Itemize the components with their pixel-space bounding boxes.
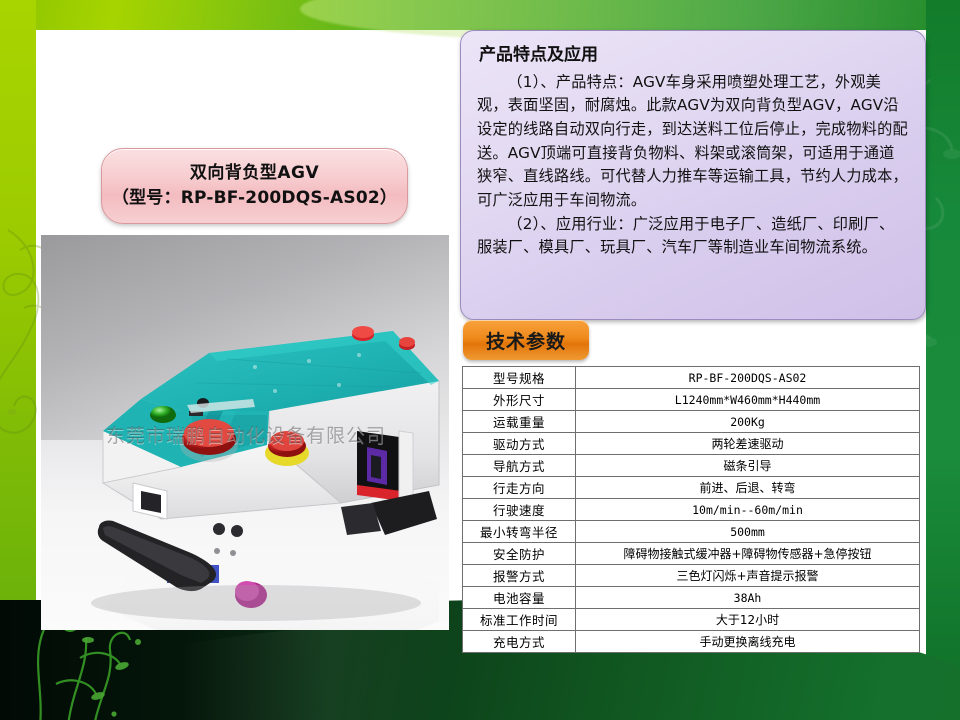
spec-row-value: 200Kg [576, 411, 920, 433]
spec-table-row: 行走方向前进、后退、转弯 [463, 477, 920, 499]
spec-table-body: 型号规格RP-BF-200DQS-AS02外形尺寸L1240mm*W460mm*… [463, 367, 920, 653]
spec-row-key: 标准工作时间 [463, 609, 576, 631]
spec-row-key: 行走方向 [463, 477, 576, 499]
spec-row-key: 充电方式 [463, 631, 576, 653]
spec-row-key: 导航方式 [463, 455, 576, 477]
spec-row-key: 运载重量 [463, 411, 576, 433]
spec-row-key: 驱动方式 [463, 433, 576, 455]
spec-table-row: 最小转弯半径500mm [463, 521, 920, 543]
spec-row-key: 最小转弯半径 [463, 521, 576, 543]
spec-row-value: 三色灯闪烁+声音提示报警 [576, 565, 920, 587]
spec-row-value: 大于12小时 [576, 609, 920, 631]
spec-row-key: 安全防护 [463, 543, 576, 565]
product-title-line2: （型号：RP-BF-200DQS-AS02） [112, 186, 397, 212]
feature-application-box: 产品特点及应用 （1）、产品特点：AGV车身采用喷塑处理工艺，外观美观，表面坚固… [460, 30, 926, 320]
spec-table-row: 标准工作时间大于12小时 [463, 609, 920, 631]
right-green-band [926, 0, 960, 700]
spec-row-value: 500mm [576, 521, 920, 543]
spec-row-value: L1240mm*W460mm*H440mm [576, 389, 920, 411]
spec-row-value: 10m/min--60m/min [576, 499, 920, 521]
spec-table-row: 报警方式三色灯闪烁+声音提示报警 [463, 565, 920, 587]
spec-row-value: RP-BF-200DQS-AS02 [576, 367, 920, 389]
spec-row-value: 38Ah [576, 587, 920, 609]
spec-table-row: 导航方式磁条引导 [463, 455, 920, 477]
spec-table-row: 型号规格RP-BF-200DQS-AS02 [463, 367, 920, 389]
spec-row-key: 外形尺寸 [463, 389, 576, 411]
top-green-band [0, 0, 960, 30]
slide-canvas: 双向背负型AGV （型号：RP-BF-200DQS-AS02） [0, 0, 960, 720]
left-green-band [0, 0, 36, 680]
spec-table-row: 电池容量38Ah [463, 587, 920, 609]
spec-table-row: 安全防护障碍物接触式缓冲器+障碍物传感器+急停按钮 [463, 543, 920, 565]
spec-row-value: 前进、后退、转弯 [576, 477, 920, 499]
spec-row-value: 手动更换离线充电 [576, 631, 920, 653]
spec-row-value: 两轮差速驱动 [576, 433, 920, 455]
product-photo: 东莞市瑞鹏自动化设备有限公司 [41, 235, 449, 630]
spec-table-row: 外形尺寸L1240mm*W460mm*H440mm [463, 389, 920, 411]
spec-row-key: 型号规格 [463, 367, 576, 389]
spec-table-row: 充电方式手动更换离线充电 [463, 631, 920, 653]
feature-paragraph-2: （2）、应用行业：广泛应用于电子厂、造纸厂、印刷厂、服装厂、模具厂、玩具厂、汽车… [477, 213, 909, 260]
spec-section-badge: 技术参数 [463, 320, 589, 360]
spec-row-key: 电池容量 [463, 587, 576, 609]
product-title-line1: 双向背负型AGV [190, 161, 319, 187]
spec-row-key: 行驶速度 [463, 499, 576, 521]
spec-table: 型号规格RP-BF-200DQS-AS02外形尺寸L1240mm*W460mm*… [462, 366, 920, 653]
feature-box-heading: 产品特点及应用 [479, 43, 909, 69]
feature-paragraph-1: （1）、产品特点：AGV车身采用喷塑处理工艺，外观美观，表面坚固，耐腐烛。此款A… [477, 71, 909, 213]
spec-table-row: 行驶速度10m/min--60m/min [463, 499, 920, 521]
spec-row-key: 报警方式 [463, 565, 576, 587]
product-title-badge: 双向背负型AGV （型号：RP-BF-200DQS-AS02） [101, 148, 408, 224]
spec-row-value: 障碍物接触式缓冲器+障碍物传感器+急停按钮 [576, 543, 920, 565]
spec-row-value: 磁条引导 [576, 455, 920, 477]
spec-table-row: 驱动方式两轮差速驱动 [463, 433, 920, 455]
spec-table-row: 运载重量200Kg [463, 411, 920, 433]
agv-vehicle-illustration [41, 235, 449, 630]
